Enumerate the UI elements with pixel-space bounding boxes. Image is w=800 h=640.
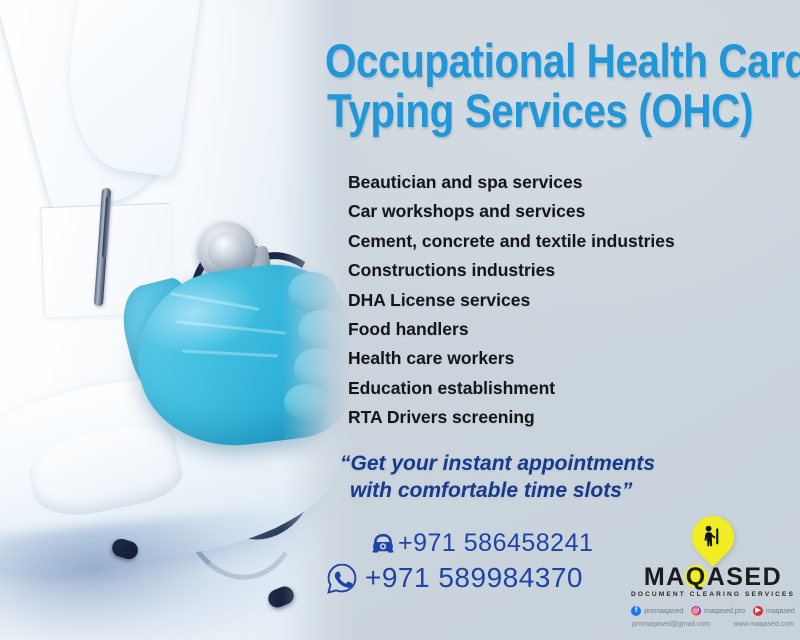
- email-address[interactable]: promaqased@gmail.com: [632, 621, 710, 628]
- brand-subtitle: DOCUMENT CLEARING SERVICES: [628, 591, 798, 598]
- tagline-line-2: with comfortable time slots”: [340, 477, 760, 504]
- phone-number: +971 586458241: [398, 528, 593, 558]
- list-item: Health care workers: [348, 344, 768, 373]
- youtube-handle: maqased: [766, 608, 795, 615]
- poster-canvas: Occupational Health Card Typing Services…: [0, 0, 800, 640]
- list-item: Cement, concrete and textile industries: [348, 227, 768, 256]
- services-list: Beautician and spa services Car workshop…: [348, 168, 768, 433]
- instagram-handle: maqased.pro: [704, 608, 745, 615]
- tagline: “Get your instant appointments with comf…: [340, 450, 760, 504]
- list-item: Constructions industries: [348, 256, 768, 285]
- list-item: Food handlers: [348, 315, 768, 344]
- instagram-icon: ◎: [691, 606, 701, 616]
- contact-block: +971 586458241 +971 589984370: [322, 528, 662, 596]
- list-item: DHA License services: [348, 286, 768, 315]
- website-url[interactable]: www.maqased.com: [733, 621, 794, 628]
- title-line-2: Typing Services (OHC): [325, 86, 755, 136]
- list-item: RTA Drivers screening: [348, 403, 768, 432]
- social-instagram[interactable]: ◎ maqased.pro: [691, 606, 745, 616]
- whatsapp-icon: [326, 562, 358, 594]
- list-item: Education establishment: [348, 374, 768, 403]
- telephone-icon: [370, 530, 396, 556]
- whatsapp-contact[interactable]: +971 589984370: [322, 560, 662, 596]
- brand-name: MAQASED: [628, 564, 798, 591]
- social-links: f promaqased ◎ maqased.pro ▶ maqased: [628, 606, 798, 616]
- brand-part-2: ASED: [707, 563, 782, 591]
- company-logo[interactable]: MAQASED DOCUMENT CLEARING SERVICES f pro…: [628, 516, 798, 640]
- whatsapp-number: +971 589984370: [365, 560, 583, 596]
- page-title: Occupational Health Card Typing Services…: [325, 36, 755, 136]
- youtube-icon: ▶: [753, 606, 763, 616]
- facebook-handle: promaqased: [644, 608, 683, 615]
- facebook-icon: f: [631, 606, 641, 616]
- brand-letter-q: Q: [686, 563, 707, 591]
- pin-figure-icon: [700, 524, 726, 550]
- social-facebook[interactable]: f promaqased: [631, 606, 683, 616]
- phone-contact[interactable]: +971 586458241: [322, 528, 662, 558]
- stethoscope-diaphragm: [208, 232, 246, 270]
- brand-part-1: MA: [644, 563, 686, 591]
- brand-q-letter: Q: [686, 563, 707, 591]
- tagline-line-1: “Get your instant appointments: [340, 450, 760, 477]
- list-item: Car workshops and services: [348, 197, 768, 226]
- list-item: Beautician and spa services: [348, 168, 768, 197]
- title-line-1: Occupational Health Card: [325, 36, 755, 86]
- social-youtube[interactable]: ▶ maqased: [753, 606, 795, 616]
- contact-links: promaqased@gmail.com www.maqased.com: [628, 621, 798, 628]
